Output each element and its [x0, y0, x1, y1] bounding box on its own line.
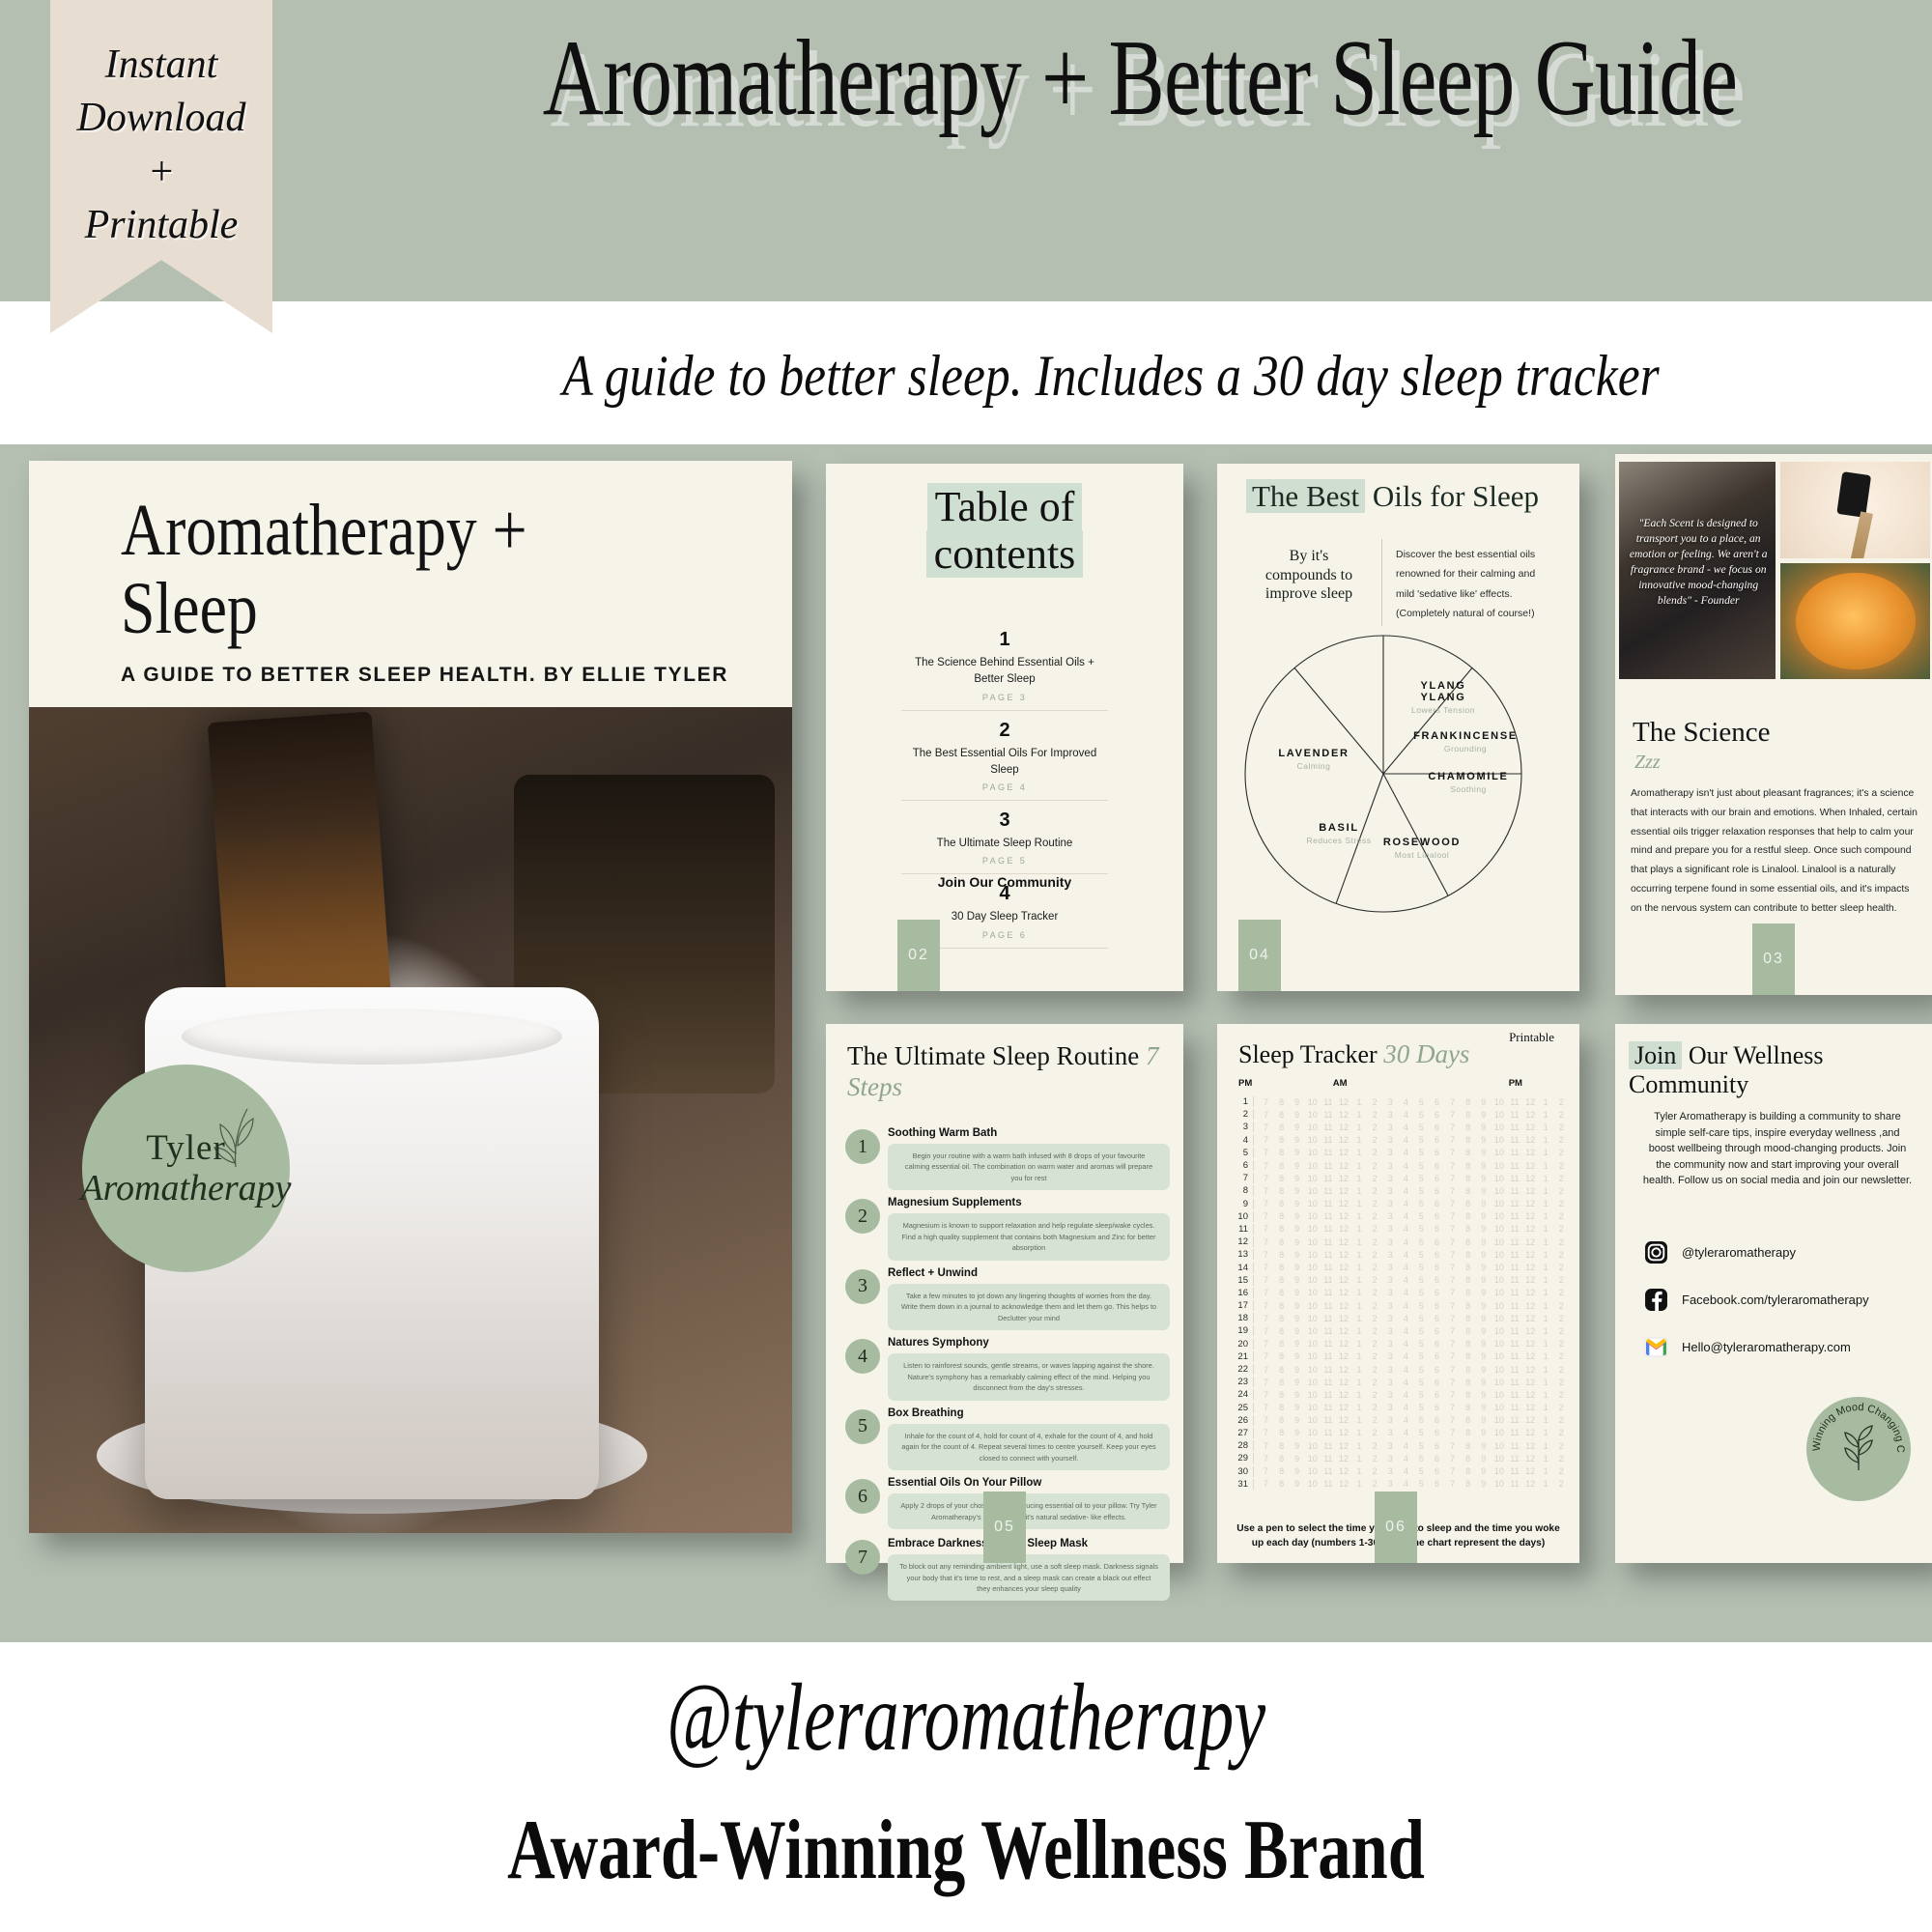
tracker-hour-cell[interactable]: 8 — [1462, 1110, 1474, 1120]
tracker-hour-cell[interactable]: 2 — [1369, 1339, 1381, 1349]
tracker-row[interactable]: 1378910111212345678910111212 — [1233, 1248, 1568, 1261]
tracker-hour-cell[interactable]: 12 — [1337, 1454, 1350, 1463]
tracker-hour-row[interactable]: 78910111212345678910111212 — [1254, 1186, 1568, 1196]
tracker-hour-cell[interactable]: 11 — [1509, 1326, 1521, 1336]
tracker-hour-cell[interactable]: 5 — [1415, 1314, 1428, 1323]
tracker-hour-cell[interactable]: 4 — [1400, 1174, 1412, 1183]
tracker-hour-cell[interactable]: 12 — [1337, 1237, 1350, 1247]
tracker-hour-cell[interactable]: 5 — [1415, 1288, 1428, 1297]
tracker-hour-cell[interactable]: 9 — [1291, 1097, 1303, 1107]
tracker-hour-cell[interactable]: 6 — [1431, 1186, 1443, 1196]
tracker-hour-cell[interactable]: 2 — [1555, 1174, 1568, 1183]
tracker-hour-cell[interactable]: 1 — [1353, 1186, 1366, 1196]
tracker-hour-cell[interactable]: 2 — [1369, 1479, 1381, 1489]
tracker-hour-cell[interactable]: 7 — [1260, 1199, 1272, 1208]
tracker-hour-cell[interactable]: 6 — [1431, 1148, 1443, 1157]
tracker-hour-cell[interactable]: 12 — [1524, 1148, 1537, 1157]
tracker-hour-cell[interactable]: 1 — [1353, 1454, 1366, 1463]
tracker-hour-cell[interactable]: 7 — [1446, 1288, 1459, 1297]
tracker-hour-cell[interactable]: 8 — [1462, 1415, 1474, 1425]
tracker-hour-cell[interactable]: 3 — [1384, 1314, 1397, 1323]
social-link-row[interactable]: @tyleraromatherapy — [1644, 1240, 1869, 1264]
tracker-hour-cell[interactable]: 7 — [1260, 1339, 1272, 1349]
tracker-hour-cell[interactable]: 8 — [1462, 1466, 1474, 1476]
tracker-hour-cell[interactable]: 9 — [1477, 1351, 1490, 1361]
tracker-hour-row[interactable]: 78910111212345678910111212 — [1254, 1097, 1568, 1107]
tracker-hour-cell[interactable]: 3 — [1384, 1275, 1397, 1285]
tracker-hour-cell[interactable]: 9 — [1477, 1250, 1490, 1260]
tracker-hour-cell[interactable]: 5 — [1415, 1199, 1428, 1208]
tracker-hour-cell[interactable]: 10 — [1306, 1351, 1319, 1361]
tracker-hour-cell[interactable]: 2 — [1555, 1263, 1568, 1272]
tracker-hour-cell[interactable]: 1 — [1353, 1415, 1366, 1425]
tracker-hour-cell[interactable]: 11 — [1321, 1441, 1334, 1451]
tracker-hour-cell[interactable]: 1 — [1353, 1148, 1366, 1157]
tracker-hour-cell[interactable]: 4 — [1400, 1479, 1412, 1489]
sleep-routine-page[interactable]: The Ultimate Sleep Routine 7 Steps 1Soot… — [826, 1024, 1183, 1563]
tracker-hour-cell[interactable]: 10 — [1306, 1224, 1319, 1234]
tracker-hour-cell[interactable]: 6 — [1431, 1339, 1443, 1349]
tracker-hour-cell[interactable]: 2 — [1555, 1186, 1568, 1196]
tracker-hour-cell[interactable]: 7 — [1260, 1365, 1272, 1375]
tracker-hour-cell[interactable]: 9 — [1291, 1110, 1303, 1120]
tracker-hour-cell[interactable]: 6 — [1431, 1237, 1443, 1247]
tracker-hour-cell[interactable]: 3 — [1384, 1110, 1397, 1120]
tracker-hour-cell[interactable]: 12 — [1524, 1326, 1537, 1336]
tracker-row[interactable]: 3178910111212345678910111212 — [1233, 1478, 1568, 1491]
tracker-hour-cell[interactable]: 10 — [1492, 1314, 1505, 1323]
tracker-hour-row[interactable]: 78910111212345678910111212 — [1254, 1250, 1568, 1260]
tracker-hour-cell[interactable]: 12 — [1524, 1314, 1537, 1323]
tracker-hour-cell[interactable]: 7 — [1446, 1479, 1459, 1489]
tracker-hour-cell[interactable]: 8 — [1462, 1288, 1474, 1297]
tracker-hour-cell[interactable]: 6 — [1431, 1122, 1443, 1132]
tracker-hour-row[interactable]: 78910111212345678910111212 — [1254, 1479, 1568, 1489]
tracker-hour-cell[interactable]: 4 — [1400, 1199, 1412, 1208]
tracker-hour-cell[interactable]: 8 — [1275, 1237, 1288, 1247]
tracker-hour-cell[interactable]: 9 — [1291, 1301, 1303, 1311]
tracker-hour-cell[interactable]: 1 — [1353, 1199, 1366, 1208]
tracker-hour-cell[interactable]: 12 — [1524, 1263, 1537, 1272]
tracker-hour-cell[interactable]: 12 — [1337, 1135, 1350, 1145]
tracker-hour-cell[interactable]: 2 — [1555, 1479, 1568, 1489]
tracker-hour-cell[interactable]: 2 — [1369, 1186, 1381, 1196]
tracker-hour-cell[interactable]: 8 — [1462, 1097, 1474, 1107]
tracker-hour-cell[interactable]: 11 — [1509, 1301, 1521, 1311]
tracker-hour-cell[interactable]: 1 — [1540, 1428, 1552, 1437]
tracker-hour-row[interactable]: 78910111212345678910111212 — [1254, 1288, 1568, 1297]
tracker-hour-cell[interactable]: 12 — [1524, 1174, 1537, 1183]
tracker-hour-cell[interactable]: 1 — [1353, 1466, 1366, 1476]
tracker-hour-cell[interactable]: 7 — [1446, 1326, 1459, 1336]
tracker-hour-cell[interactable]: 1 — [1353, 1161, 1366, 1171]
tracker-hour-cell[interactable]: 7 — [1260, 1148, 1272, 1157]
tracker-hour-cell[interactable]: 2 — [1555, 1275, 1568, 1285]
tracker-hour-cell[interactable]: 11 — [1509, 1199, 1521, 1208]
tracker-hour-cell[interactable]: 7 — [1446, 1441, 1459, 1451]
tracker-hour-cell[interactable]: 11 — [1321, 1135, 1334, 1145]
tracker-hour-cell[interactable]: 12 — [1337, 1097, 1350, 1107]
tracker-hour-cell[interactable]: 2 — [1555, 1237, 1568, 1247]
tracker-hour-cell[interactable]: 6 — [1431, 1174, 1443, 1183]
tracker-hour-row[interactable]: 78910111212345678910111212 — [1254, 1161, 1568, 1171]
tracker-hour-cell[interactable]: 7 — [1446, 1454, 1459, 1463]
tracker-hour-cell[interactable]: 10 — [1306, 1211, 1319, 1221]
tracker-hour-cell[interactable]: 10 — [1306, 1378, 1319, 1387]
tracker-hour-cell[interactable]: 2 — [1369, 1428, 1381, 1437]
tracker-row[interactable]: 2778910111212345678910111212 — [1233, 1427, 1568, 1439]
tracker-hour-cell[interactable]: 2 — [1555, 1441, 1568, 1451]
tracker-hour-cell[interactable]: 11 — [1509, 1148, 1521, 1157]
tracker-hour-cell[interactable]: 4 — [1400, 1466, 1412, 1476]
tracker-hour-cell[interactable]: 7 — [1260, 1301, 1272, 1311]
tracker-hour-cell[interactable]: 12 — [1337, 1161, 1350, 1171]
tracker-hour-cell[interactable]: 9 — [1477, 1288, 1490, 1297]
tracker-hour-cell[interactable]: 11 — [1509, 1161, 1521, 1171]
tracker-hour-cell[interactable]: 12 — [1524, 1339, 1537, 1349]
tracker-hour-cell[interactable]: 11 — [1509, 1263, 1521, 1272]
tracker-hour-cell[interactable]: 6 — [1431, 1097, 1443, 1107]
tracker-hour-row[interactable]: 78910111212345678910111212 — [1254, 1211, 1568, 1221]
tracker-hour-cell[interactable]: 5 — [1415, 1428, 1428, 1437]
tracker-hour-cell[interactable]: 12 — [1337, 1339, 1350, 1349]
tracker-hour-cell[interactable]: 9 — [1477, 1454, 1490, 1463]
tracker-hour-cell[interactable]: 1 — [1353, 1441, 1366, 1451]
tracker-hour-cell[interactable]: 11 — [1321, 1314, 1334, 1323]
tracker-hour-cell[interactable]: 9 — [1477, 1211, 1490, 1221]
tracker-hour-cell[interactable]: 8 — [1462, 1403, 1474, 1412]
tracker-hour-cell[interactable]: 8 — [1275, 1351, 1288, 1361]
tracker-hour-cell[interactable]: 11 — [1321, 1365, 1334, 1375]
tracker-hour-cell[interactable]: 10 — [1492, 1378, 1505, 1387]
tracker-hour-cell[interactable]: 11 — [1321, 1263, 1334, 1272]
tracker-hour-cell[interactable]: 11 — [1321, 1351, 1334, 1361]
tracker-hour-cell[interactable]: 11 — [1509, 1275, 1521, 1285]
tracker-hour-cell[interactable]: 11 — [1321, 1122, 1334, 1132]
tracker-hour-cell[interactable]: 6 — [1431, 1314, 1443, 1323]
tracker-hour-cell[interactable]: 8 — [1462, 1122, 1474, 1132]
tracker-hour-cell[interactable]: 11 — [1321, 1339, 1334, 1349]
tracker-hour-cell[interactable]: 2 — [1555, 1390, 1568, 1400]
tracker-row[interactable]: 478910111212345678910111212 — [1233, 1134, 1568, 1147]
tracker-hour-cell[interactable]: 10 — [1492, 1326, 1505, 1336]
tracker-hour-cell[interactable]: 11 — [1509, 1339, 1521, 1349]
tracker-hour-cell[interactable]: 7 — [1446, 1186, 1459, 1196]
tracker-hour-cell[interactable]: 3 — [1384, 1186, 1397, 1196]
tracker-hour-cell[interactable]: 3 — [1384, 1466, 1397, 1476]
tracker-hour-cell[interactable]: 12 — [1337, 1365, 1350, 1375]
tracker-hour-cell[interactable]: 2 — [1555, 1122, 1568, 1132]
toc-item[interactable]: 2The Best Essential Oils For Improved Sl… — [901, 711, 1108, 802]
tracker-hour-cell[interactable]: 2 — [1369, 1441, 1381, 1451]
tracker-hour-cell[interactable]: 1 — [1540, 1199, 1552, 1208]
tracker-hour-cell[interactable]: 10 — [1306, 1415, 1319, 1425]
tracker-hour-cell[interactable]: 12 — [1524, 1428, 1537, 1437]
tracker-row[interactable]: 1578910111212345678910111212 — [1233, 1274, 1568, 1287]
tracker-hour-cell[interactable]: 8 — [1462, 1378, 1474, 1387]
tracker-hour-cell[interactable]: 11 — [1321, 1288, 1334, 1297]
tracker-hour-cell[interactable]: 7 — [1260, 1415, 1272, 1425]
tracker-hour-cell[interactable]: 1 — [1540, 1390, 1552, 1400]
tracker-hour-cell[interactable]: 11 — [1509, 1250, 1521, 1260]
tracker-hour-cell[interactable]: 10 — [1306, 1390, 1319, 1400]
tracker-hour-cell[interactable]: 11 — [1321, 1097, 1334, 1107]
tracker-hour-cell[interactable]: 9 — [1291, 1365, 1303, 1375]
tracker-hour-cell[interactable]: 8 — [1275, 1224, 1288, 1234]
tracker-hour-cell[interactable]: 8 — [1275, 1186, 1288, 1196]
tracker-hour-cell[interactable]: 5 — [1415, 1301, 1428, 1311]
tracker-hour-cell[interactable]: 7 — [1260, 1351, 1272, 1361]
tracker-hour-cell[interactable]: 11 — [1321, 1275, 1334, 1285]
tracker-row[interactable]: 978910111212345678910111212 — [1233, 1198, 1568, 1210]
tracker-hour-cell[interactable]: 10 — [1306, 1122, 1319, 1132]
tracker-hour-cell[interactable]: 1 — [1540, 1415, 1552, 1425]
tracker-hour-cell[interactable]: 7 — [1446, 1122, 1459, 1132]
tracker-hour-cell[interactable]: 8 — [1462, 1135, 1474, 1145]
tracker-hour-cell[interactable]: 12 — [1337, 1428, 1350, 1437]
tracker-hour-cell[interactable]: 11 — [1321, 1479, 1334, 1489]
tracker-hour-cell[interactable]: 10 — [1306, 1479, 1319, 1489]
tracker-hour-cell[interactable]: 7 — [1446, 1351, 1459, 1361]
tracker-hour-cell[interactable]: 11 — [1321, 1148, 1334, 1157]
tracker-hour-cell[interactable]: 12 — [1337, 1224, 1350, 1234]
tracker-hour-cell[interactable]: 1 — [1540, 1441, 1552, 1451]
tracker-row[interactable]: 2978910111212345678910111212 — [1233, 1452, 1568, 1464]
tracker-hour-cell[interactable]: 2 — [1555, 1148, 1568, 1157]
tracker-hour-cell[interactable]: 3 — [1384, 1097, 1397, 1107]
tracker-hour-cell[interactable]: 2 — [1369, 1263, 1381, 1272]
tracker-hour-cell[interactable]: 11 — [1321, 1378, 1334, 1387]
tracker-hour-cell[interactable]: 2 — [1555, 1250, 1568, 1260]
tracker-hour-cell[interactable]: 2 — [1555, 1351, 1568, 1361]
tracker-hour-cell[interactable]: 5 — [1415, 1390, 1428, 1400]
tracker-hour-cell[interactable]: 9 — [1477, 1339, 1490, 1349]
tracker-row[interactable]: 378910111212345678910111212 — [1233, 1121, 1568, 1133]
tracker-hour-row[interactable]: 78910111212345678910111212 — [1254, 1199, 1568, 1208]
tracker-hour-cell[interactable]: 11 — [1321, 1186, 1334, 1196]
tracker-hour-cell[interactable]: 12 — [1524, 1403, 1537, 1412]
tracker-hour-cell[interactable]: 9 — [1291, 1275, 1303, 1285]
tracker-hour-cell[interactable]: 7 — [1260, 1441, 1272, 1451]
tracker-hour-cell[interactable]: 8 — [1462, 1314, 1474, 1323]
tracker-hour-cell[interactable]: 2 — [1555, 1365, 1568, 1375]
tracker-hour-cell[interactable]: 5 — [1415, 1378, 1428, 1387]
tracker-hour-cell[interactable]: 10 — [1492, 1135, 1505, 1145]
tracker-hour-cell[interactable]: 7 — [1446, 1224, 1459, 1234]
tracker-hour-cell[interactable]: 3 — [1384, 1263, 1397, 1272]
tracker-hour-cell[interactable]: 5 — [1415, 1466, 1428, 1476]
tracker-hour-cell[interactable]: 12 — [1524, 1110, 1537, 1120]
tracker-hour-cell[interactable]: 11 — [1321, 1390, 1334, 1400]
tracker-hour-cell[interactable]: 8 — [1462, 1186, 1474, 1196]
tracker-hour-cell[interactable]: 1 — [1540, 1288, 1552, 1297]
tracker-hour-row[interactable]: 78910111212345678910111212 — [1254, 1428, 1568, 1437]
tracker-hour-cell[interactable]: 7 — [1260, 1211, 1272, 1221]
tracker-hour-cell[interactable]: 1 — [1540, 1211, 1552, 1221]
tracker-hour-cell[interactable]: 6 — [1431, 1224, 1443, 1234]
tracker-hour-cell[interactable]: 10 — [1306, 1097, 1319, 1107]
tracker-hour-cell[interactable]: 10 — [1492, 1224, 1505, 1234]
tracker-hour-cell[interactable]: 2 — [1369, 1365, 1381, 1375]
tracker-hour-cell[interactable]: 11 — [1321, 1174, 1334, 1183]
tracker-hour-cell[interactable]: 10 — [1492, 1250, 1505, 1260]
tracker-row[interactable]: 678910111212345678910111212 — [1233, 1159, 1568, 1172]
tracker-hour-cell[interactable]: 5 — [1415, 1454, 1428, 1463]
tracker-hour-cell[interactable]: 5 — [1415, 1135, 1428, 1145]
tracker-row[interactable]: 778910111212345678910111212 — [1233, 1172, 1568, 1184]
tracker-hour-cell[interactable]: 8 — [1275, 1148, 1288, 1157]
tracker-hour-cell[interactable]: 2 — [1369, 1378, 1381, 1387]
tracker-hour-cell[interactable]: 2 — [1369, 1288, 1381, 1297]
social-link-row[interactable]: Hello@tyleraromatherapy.com — [1644, 1335, 1869, 1359]
tracker-hour-cell[interactable]: 9 — [1291, 1174, 1303, 1183]
wellness-community-page[interactable]: Join Our Wellness Community Tyler Aromat… — [1615, 1024, 1932, 1563]
tracker-hour-cell[interactable]: 2 — [1369, 1211, 1381, 1221]
tracker-hour-cell[interactable]: 8 — [1462, 1224, 1474, 1234]
tracker-hour-cell[interactable]: 9 — [1477, 1415, 1490, 1425]
tracker-hour-cell[interactable]: 1 — [1353, 1339, 1366, 1349]
tracker-hour-cell[interactable]: 1 — [1540, 1135, 1552, 1145]
tracker-hour-row[interactable]: 78910111212345678910111212 — [1254, 1339, 1568, 1349]
tracker-hour-cell[interactable]: 1 — [1353, 1275, 1366, 1285]
tracker-hour-cell[interactable]: 10 — [1492, 1441, 1505, 1451]
tracker-hour-cell[interactable]: 8 — [1462, 1199, 1474, 1208]
tracker-hour-cell[interactable]: 12 — [1524, 1415, 1537, 1425]
tracker-hour-cell[interactable]: 1 — [1540, 1351, 1552, 1361]
tracker-hour-cell[interactable]: 9 — [1291, 1250, 1303, 1260]
tracker-hour-cell[interactable]: 3 — [1384, 1174, 1397, 1183]
tracker-hour-cell[interactable]: 6 — [1431, 1466, 1443, 1476]
tracker-hour-cell[interactable]: 11 — [1321, 1250, 1334, 1260]
tracker-hour-cell[interactable]: 2 — [1369, 1390, 1381, 1400]
tracker-hour-cell[interactable]: 4 — [1400, 1378, 1412, 1387]
tracker-hour-cell[interactable]: 7 — [1260, 1161, 1272, 1171]
tracker-hour-cell[interactable]: 2 — [1369, 1454, 1381, 1463]
tracker-hour-cell[interactable]: 6 — [1431, 1263, 1443, 1272]
tracker-hour-cell[interactable]: 11 — [1509, 1097, 1521, 1107]
tracker-hour-cell[interactable]: 9 — [1477, 1466, 1490, 1476]
tracker-hour-cell[interactable]: 5 — [1415, 1097, 1428, 1107]
tracker-hour-cell[interactable]: 11 — [1321, 1211, 1334, 1221]
tracker-hour-cell[interactable]: 9 — [1477, 1224, 1490, 1234]
tracker-hour-cell[interactable]: 11 — [1509, 1378, 1521, 1387]
tracker-row[interactable]: 1278910111212345678910111212 — [1233, 1236, 1568, 1248]
tracker-hour-cell[interactable]: 1 — [1540, 1466, 1552, 1476]
tracker-hour-cell[interactable]: 1 — [1540, 1110, 1552, 1120]
tracker-hour-cell[interactable]: 8 — [1462, 1351, 1474, 1361]
tracker-hour-cell[interactable]: 3 — [1384, 1301, 1397, 1311]
tracker-hour-cell[interactable]: 3 — [1384, 1122, 1397, 1132]
tracker-hour-cell[interactable]: 8 — [1275, 1288, 1288, 1297]
tracker-hour-cell[interactable]: 12 — [1524, 1378, 1537, 1387]
tracker-hour-cell[interactable]: 12 — [1524, 1441, 1537, 1451]
tracker-hour-cell[interactable]: 7 — [1260, 1263, 1272, 1272]
tracker-hour-cell[interactable]: 6 — [1431, 1479, 1443, 1489]
tracker-hour-cell[interactable]: 3 — [1384, 1378, 1397, 1387]
tracker-hour-cell[interactable]: 8 — [1462, 1161, 1474, 1171]
tracker-hour-cell[interactable]: 2 — [1369, 1351, 1381, 1361]
tracker-hour-cell[interactable]: 3 — [1384, 1211, 1397, 1221]
tracker-hour-cell[interactable]: 4 — [1400, 1301, 1412, 1311]
tracker-hour-cell[interactable]: 7 — [1446, 1403, 1459, 1412]
tracker-hour-cell[interactable]: 10 — [1306, 1135, 1319, 1145]
tracker-hour-cell[interactable]: 1 — [1353, 1097, 1366, 1107]
tracker-hour-cell[interactable]: 5 — [1415, 1110, 1428, 1120]
tracker-hour-cell[interactable]: 11 — [1321, 1326, 1334, 1336]
tracker-hour-cell[interactable]: 9 — [1291, 1326, 1303, 1336]
tracker-hour-cell[interactable]: 12 — [1524, 1351, 1537, 1361]
tracker-hour-cell[interactable]: 7 — [1446, 1314, 1459, 1323]
tracker-hour-cell[interactable]: 10 — [1492, 1110, 1505, 1120]
tracker-hour-cell[interactable]: 4 — [1400, 1314, 1412, 1323]
tracker-hour-cell[interactable]: 2 — [1555, 1161, 1568, 1171]
tracker-hour-cell[interactable]: 8 — [1462, 1148, 1474, 1157]
tracker-hour-cell[interactable]: 9 — [1291, 1186, 1303, 1196]
tracker-hour-cell[interactable]: 2 — [1555, 1378, 1568, 1387]
tracker-hour-cell[interactable]: 1 — [1353, 1365, 1366, 1375]
tracker-hour-cell[interactable]: 10 — [1492, 1263, 1505, 1272]
tracker-hour-cell[interactable]: 9 — [1291, 1351, 1303, 1361]
tracker-hour-cell[interactable]: 4 — [1400, 1186, 1412, 1196]
tracker-hour-cell[interactable]: 4 — [1400, 1110, 1412, 1120]
tracker-hour-cell[interactable]: 9 — [1477, 1479, 1490, 1489]
tracker-hour-cell[interactable]: 8 — [1462, 1428, 1474, 1437]
tracker-hour-cell[interactable]: 7 — [1260, 1454, 1272, 1463]
tracker-hour-cell[interactable]: 9 — [1477, 1110, 1490, 1120]
tracker-hour-cell[interactable]: 9 — [1477, 1174, 1490, 1183]
tracker-hour-cell[interactable]: 5 — [1415, 1211, 1428, 1221]
tracker-hour-cell[interactable]: 11 — [1509, 1211, 1521, 1221]
tracker-hour-cell[interactable]: 5 — [1415, 1263, 1428, 1272]
tracker-hour-cell[interactable]: 2 — [1555, 1224, 1568, 1234]
tracker-hour-cell[interactable]: 6 — [1431, 1403, 1443, 1412]
tracker-hour-cell[interactable]: 6 — [1431, 1288, 1443, 1297]
tracker-hour-cell[interactable]: 10 — [1306, 1301, 1319, 1311]
tracker-hour-cell[interactable]: 7 — [1446, 1301, 1459, 1311]
tracker-hour-cell[interactable]: 12 — [1337, 1263, 1350, 1272]
tracker-hour-cell[interactable]: 8 — [1462, 1339, 1474, 1349]
tracker-hour-cell[interactable]: 6 — [1431, 1378, 1443, 1387]
tracker-hour-row[interactable]: 78910111212345678910111212 — [1254, 1148, 1568, 1157]
tracker-hour-cell[interactable]: 7 — [1260, 1110, 1272, 1120]
tracker-hour-cell[interactable]: 1 — [1540, 1148, 1552, 1157]
tracker-hour-cell[interactable]: 8 — [1275, 1365, 1288, 1375]
tracker-hour-cell[interactable]: 7 — [1260, 1390, 1272, 1400]
tracker-hour-cell[interactable]: 5 — [1415, 1275, 1428, 1285]
tracker-hour-cell[interactable]: 8 — [1275, 1314, 1288, 1323]
tracker-hour-cell[interactable]: 11 — [1321, 1403, 1334, 1412]
tracker-hour-cell[interactable]: 8 — [1275, 1301, 1288, 1311]
tracker-hour-cell[interactable]: 4 — [1400, 1428, 1412, 1437]
tracker-hour-cell[interactable]: 12 — [1524, 1135, 1537, 1145]
tracker-hour-cell[interactable]: 9 — [1291, 1390, 1303, 1400]
tracker-hour-cell[interactable]: 6 — [1431, 1211, 1443, 1221]
tracker-hour-cell[interactable]: 3 — [1384, 1390, 1397, 1400]
tracker-hour-cell[interactable]: 8 — [1462, 1174, 1474, 1183]
tracker-hour-cell[interactable]: 1 — [1353, 1403, 1366, 1412]
tracker-hour-row[interactable]: 78910111212345678910111212 — [1254, 1263, 1568, 1272]
tracker-hour-cell[interactable]: 7 — [1446, 1263, 1459, 1272]
tracker-hour-cell[interactable]: 11 — [1321, 1415, 1334, 1425]
tracker-hour-cell[interactable]: 9 — [1477, 1186, 1490, 1196]
tracker-hour-cell[interactable]: 12 — [1337, 1301, 1350, 1311]
tracker-hour-cell[interactable]: 1 — [1353, 1250, 1366, 1260]
tracker-hour-cell[interactable]: 11 — [1509, 1351, 1521, 1361]
tracker-hour-row[interactable]: 78910111212345678910111212 — [1254, 1110, 1568, 1120]
tracker-hour-cell[interactable]: 9 — [1291, 1479, 1303, 1489]
tracker-hour-cell[interactable]: 7 — [1260, 1275, 1272, 1285]
tracker-hour-cell[interactable]: 2 — [1369, 1097, 1381, 1107]
